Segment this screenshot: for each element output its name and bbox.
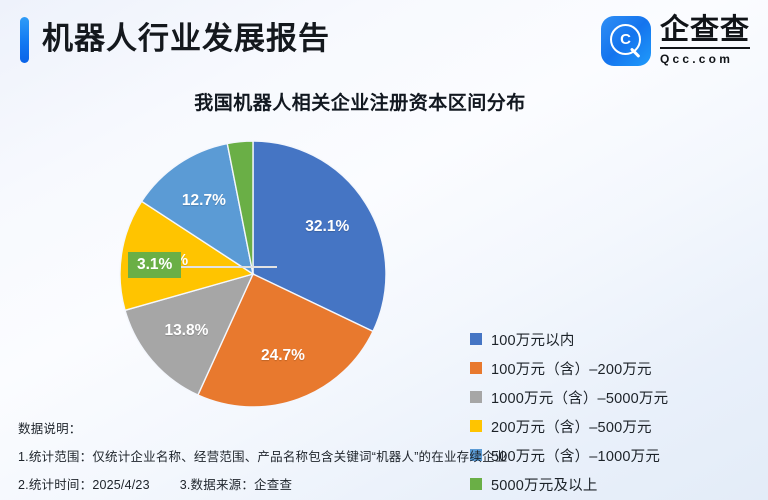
data-notes: 数据说明： 1.统计范围：仅统计企业名称、经营范围、产品名称包含关键词“机器人”… bbox=[18, 418, 507, 493]
legend-swatch bbox=[470, 391, 482, 403]
notes-scope: 1.统计范围：仅统计企业名称、经营范围、产品名称包含关键词“机器人”的在业存续企… bbox=[18, 446, 507, 465]
brand-mark-letter: C bbox=[616, 30, 635, 49]
legend-item[interactable]: 100万元（含）–200万元 bbox=[470, 359, 668, 377]
brand-name-cn: 企查查 bbox=[660, 14, 750, 49]
legend-swatch bbox=[470, 333, 482, 345]
callout-leader-line bbox=[177, 266, 277, 268]
title-accent-bar bbox=[20, 17, 29, 63]
brand-logo: C 企查查 Qcc.com bbox=[601, 14, 750, 67]
legend-label: 100万元以内 bbox=[491, 329, 575, 350]
legend-swatch bbox=[470, 362, 482, 374]
legend-label: 200万元（含）–500万元 bbox=[491, 416, 652, 437]
notes-meta-row: 2.统计时间：2025/4/23 3.数据来源：企查查 bbox=[18, 474, 507, 493]
page-header: 机器人行业发展报告 C 企查查 Qcc.com bbox=[0, 0, 768, 78]
qcc-magnifier-icon: C bbox=[601, 16, 651, 66]
legend-item[interactable]: 100万元以内 bbox=[470, 330, 668, 348]
legend-label: 1000万元（含）–5000万元 bbox=[491, 387, 668, 408]
pie-chart: 32.1%24.7%13.8%13.6%12.7% 3.1% 100万元以内10… bbox=[0, 118, 768, 408]
legend-label: 100万元（含）–200万元 bbox=[491, 358, 652, 379]
callout-label-5000plus: 3.1% bbox=[128, 252, 181, 278]
page-title: 机器人行业发展报告 bbox=[42, 14, 330, 64]
brand-name-en: Qcc.com bbox=[660, 51, 750, 67]
notes-heading: 数据说明： bbox=[18, 418, 507, 437]
legend-item[interactable]: 1000万元（含）–5000万元 bbox=[470, 388, 668, 406]
notes-source: 3.数据来源：企查查 bbox=[180, 474, 292, 493]
brand-wordmark: 企查查 Qcc.com bbox=[660, 14, 750, 67]
legend-label: 500万元（含）–1000万元 bbox=[491, 445, 660, 466]
chart-title: 我国机器人相关企业注册资本区间分布 bbox=[0, 88, 720, 115]
notes-date: 2.统计时间：2025/4/23 bbox=[18, 474, 150, 493]
